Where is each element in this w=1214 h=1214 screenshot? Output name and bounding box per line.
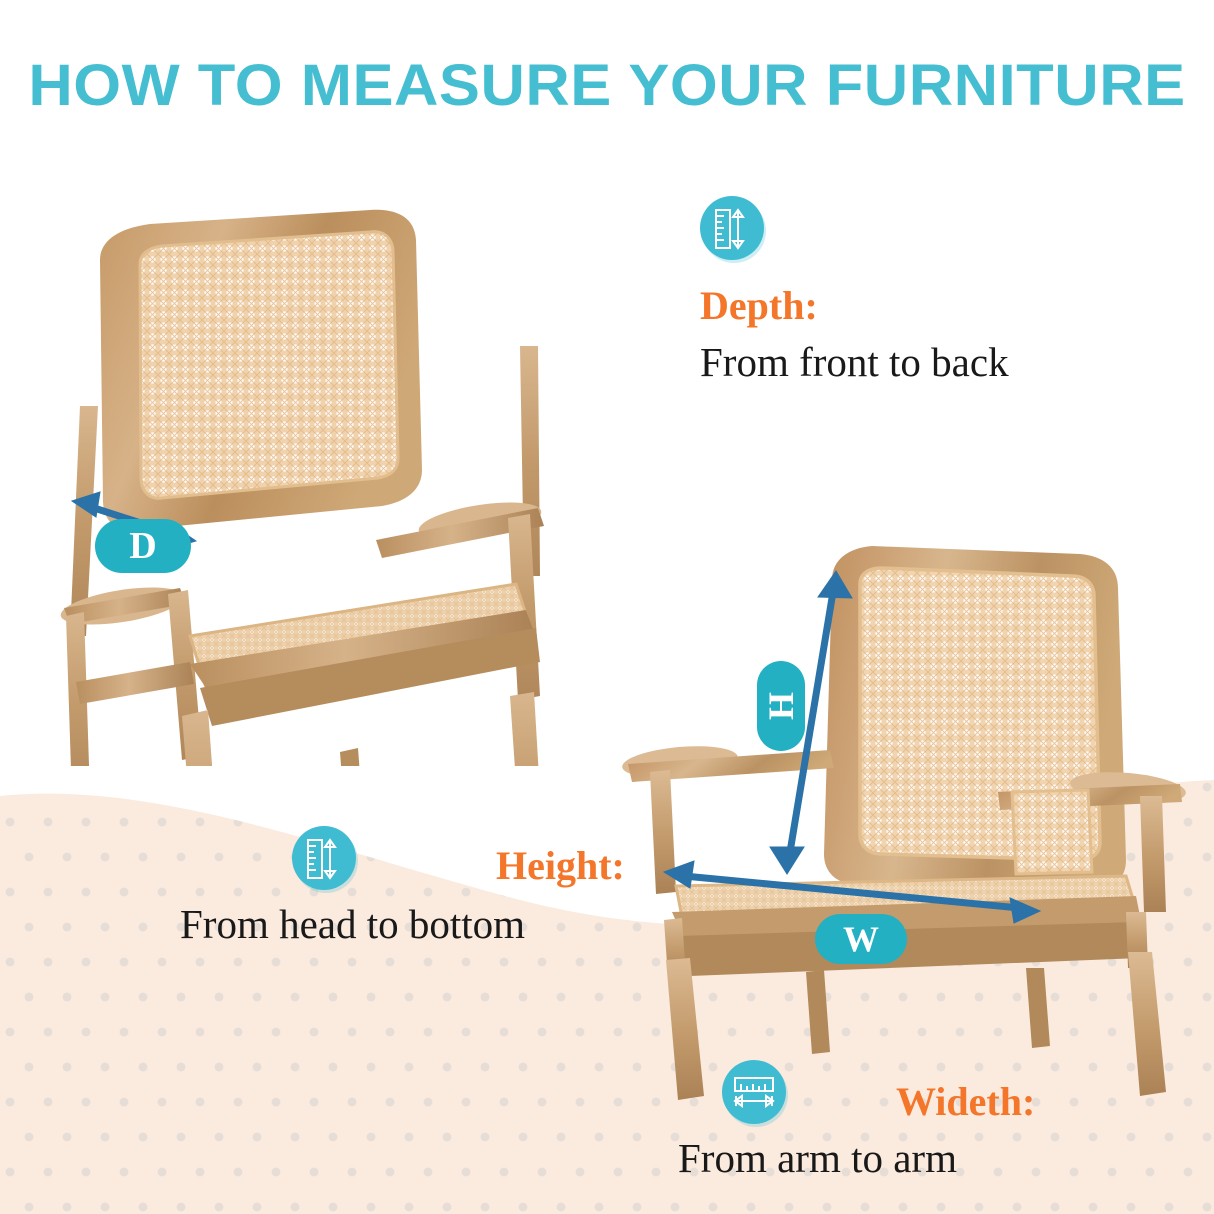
product-photo-left-chair [40, 196, 560, 771]
badge-width-label: W [843, 918, 879, 960]
legend-width-description: From arm to arm [678, 1138, 1035, 1179]
product-photo-right-chair [620, 540, 1200, 1105]
horizontal-ruler-arrow-icon [722, 1060, 786, 1124]
legend-width-heading: Wideth: [896, 1082, 1035, 1122]
legend-height-description: From head to bottom [180, 904, 625, 945]
badge-height-label: H [760, 692, 802, 720]
page-title: HOW TO MEASURE YOUR FURNITURE [0, 52, 1214, 119]
status-badge-width: W [815, 914, 907, 964]
legend-height: Height: From head to bottom [292, 826, 625, 945]
legend-height-heading: Height: [496, 846, 625, 886]
badge-depth-label: D [129, 524, 156, 568]
vertical-ruler-arrow-icon [700, 196, 764, 260]
legend-depth-heading: Depth: [700, 286, 1009, 326]
vertical-ruler-arrow-icon [292, 826, 356, 890]
status-badge-height: H [757, 661, 805, 751]
legend-depth: Depth: From front to back [700, 196, 1009, 383]
status-badge-depth: D [95, 519, 191, 573]
legend-depth-description: From front to back [700, 342, 1009, 383]
infographic-canvas: HOW TO MEASURE YOUR FURNITURE [0, 0, 1214, 1214]
legend-width: Wideth: From arm to arm [722, 1060, 1035, 1179]
